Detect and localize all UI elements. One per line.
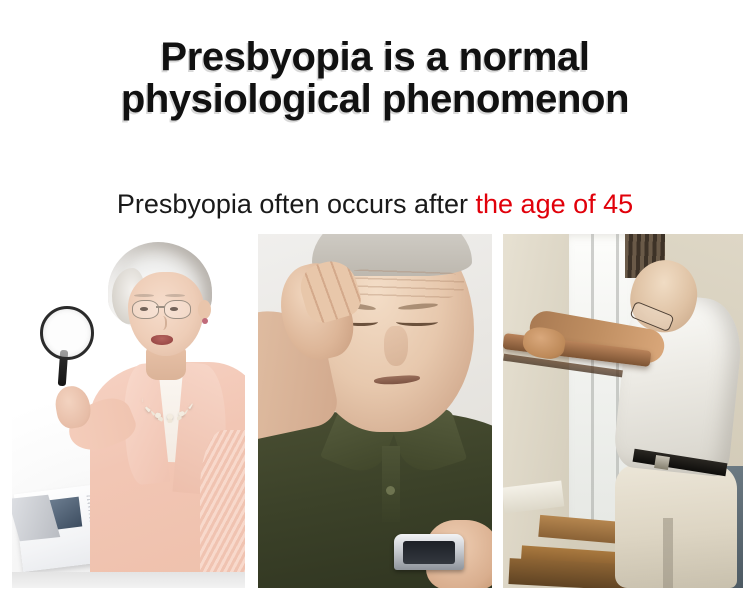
- woman-mouth: [151, 335, 173, 345]
- photo-man-squinting-at-phone: [258, 234, 492, 588]
- cardigan-sleeve: [200, 430, 245, 580]
- image-panel-inconveniences[interactable]: Inconveniences in daily life: [503, 234, 743, 588]
- trouser-leg-shadow: [663, 518, 673, 588]
- pearl-necklace-inner: [149, 384, 189, 423]
- eyeglasses-lens-left: [132, 300, 159, 319]
- photo-woman-with-magnifier: [12, 234, 245, 588]
- magnifying-glass-icon: [40, 306, 94, 360]
- woman-nose: [156, 316, 167, 330]
- mobile-phone-icon: [394, 534, 464, 570]
- man-trousers: [615, 464, 737, 588]
- woman-eyebrow-left: [134, 294, 154, 297]
- woman-eyebrow-right: [165, 294, 185, 297]
- subtitle-lead-text: Presbyopia often occurs after: [117, 189, 476, 219]
- eyeglasses-lens-right: [164, 300, 191, 319]
- woman-ear: [198, 300, 211, 319]
- belt-buckle: [654, 455, 670, 470]
- subtitle-highlight-text: the age of 45: [476, 189, 634, 219]
- photo-man-descending-stairs: [503, 234, 743, 588]
- polo-placket: [382, 446, 400, 522]
- subtitle: Presbyopia often occurs after the age of…: [0, 190, 750, 220]
- earring: [202, 318, 208, 324]
- man-nose: [384, 326, 408, 366]
- table-surface: [12, 572, 245, 588]
- image-panel-blurred-vision[interactable]: Blurred vision: [12, 234, 245, 588]
- polo-button: [386, 486, 395, 495]
- man-eye-right: [396, 318, 438, 326]
- page-title: Presbyopia is a normal physiological phe…: [0, 36, 750, 121]
- eyeglasses-bridge: [156, 306, 165, 308]
- image-panel-poor-vision[interactable]: Poor vision: [258, 234, 492, 588]
